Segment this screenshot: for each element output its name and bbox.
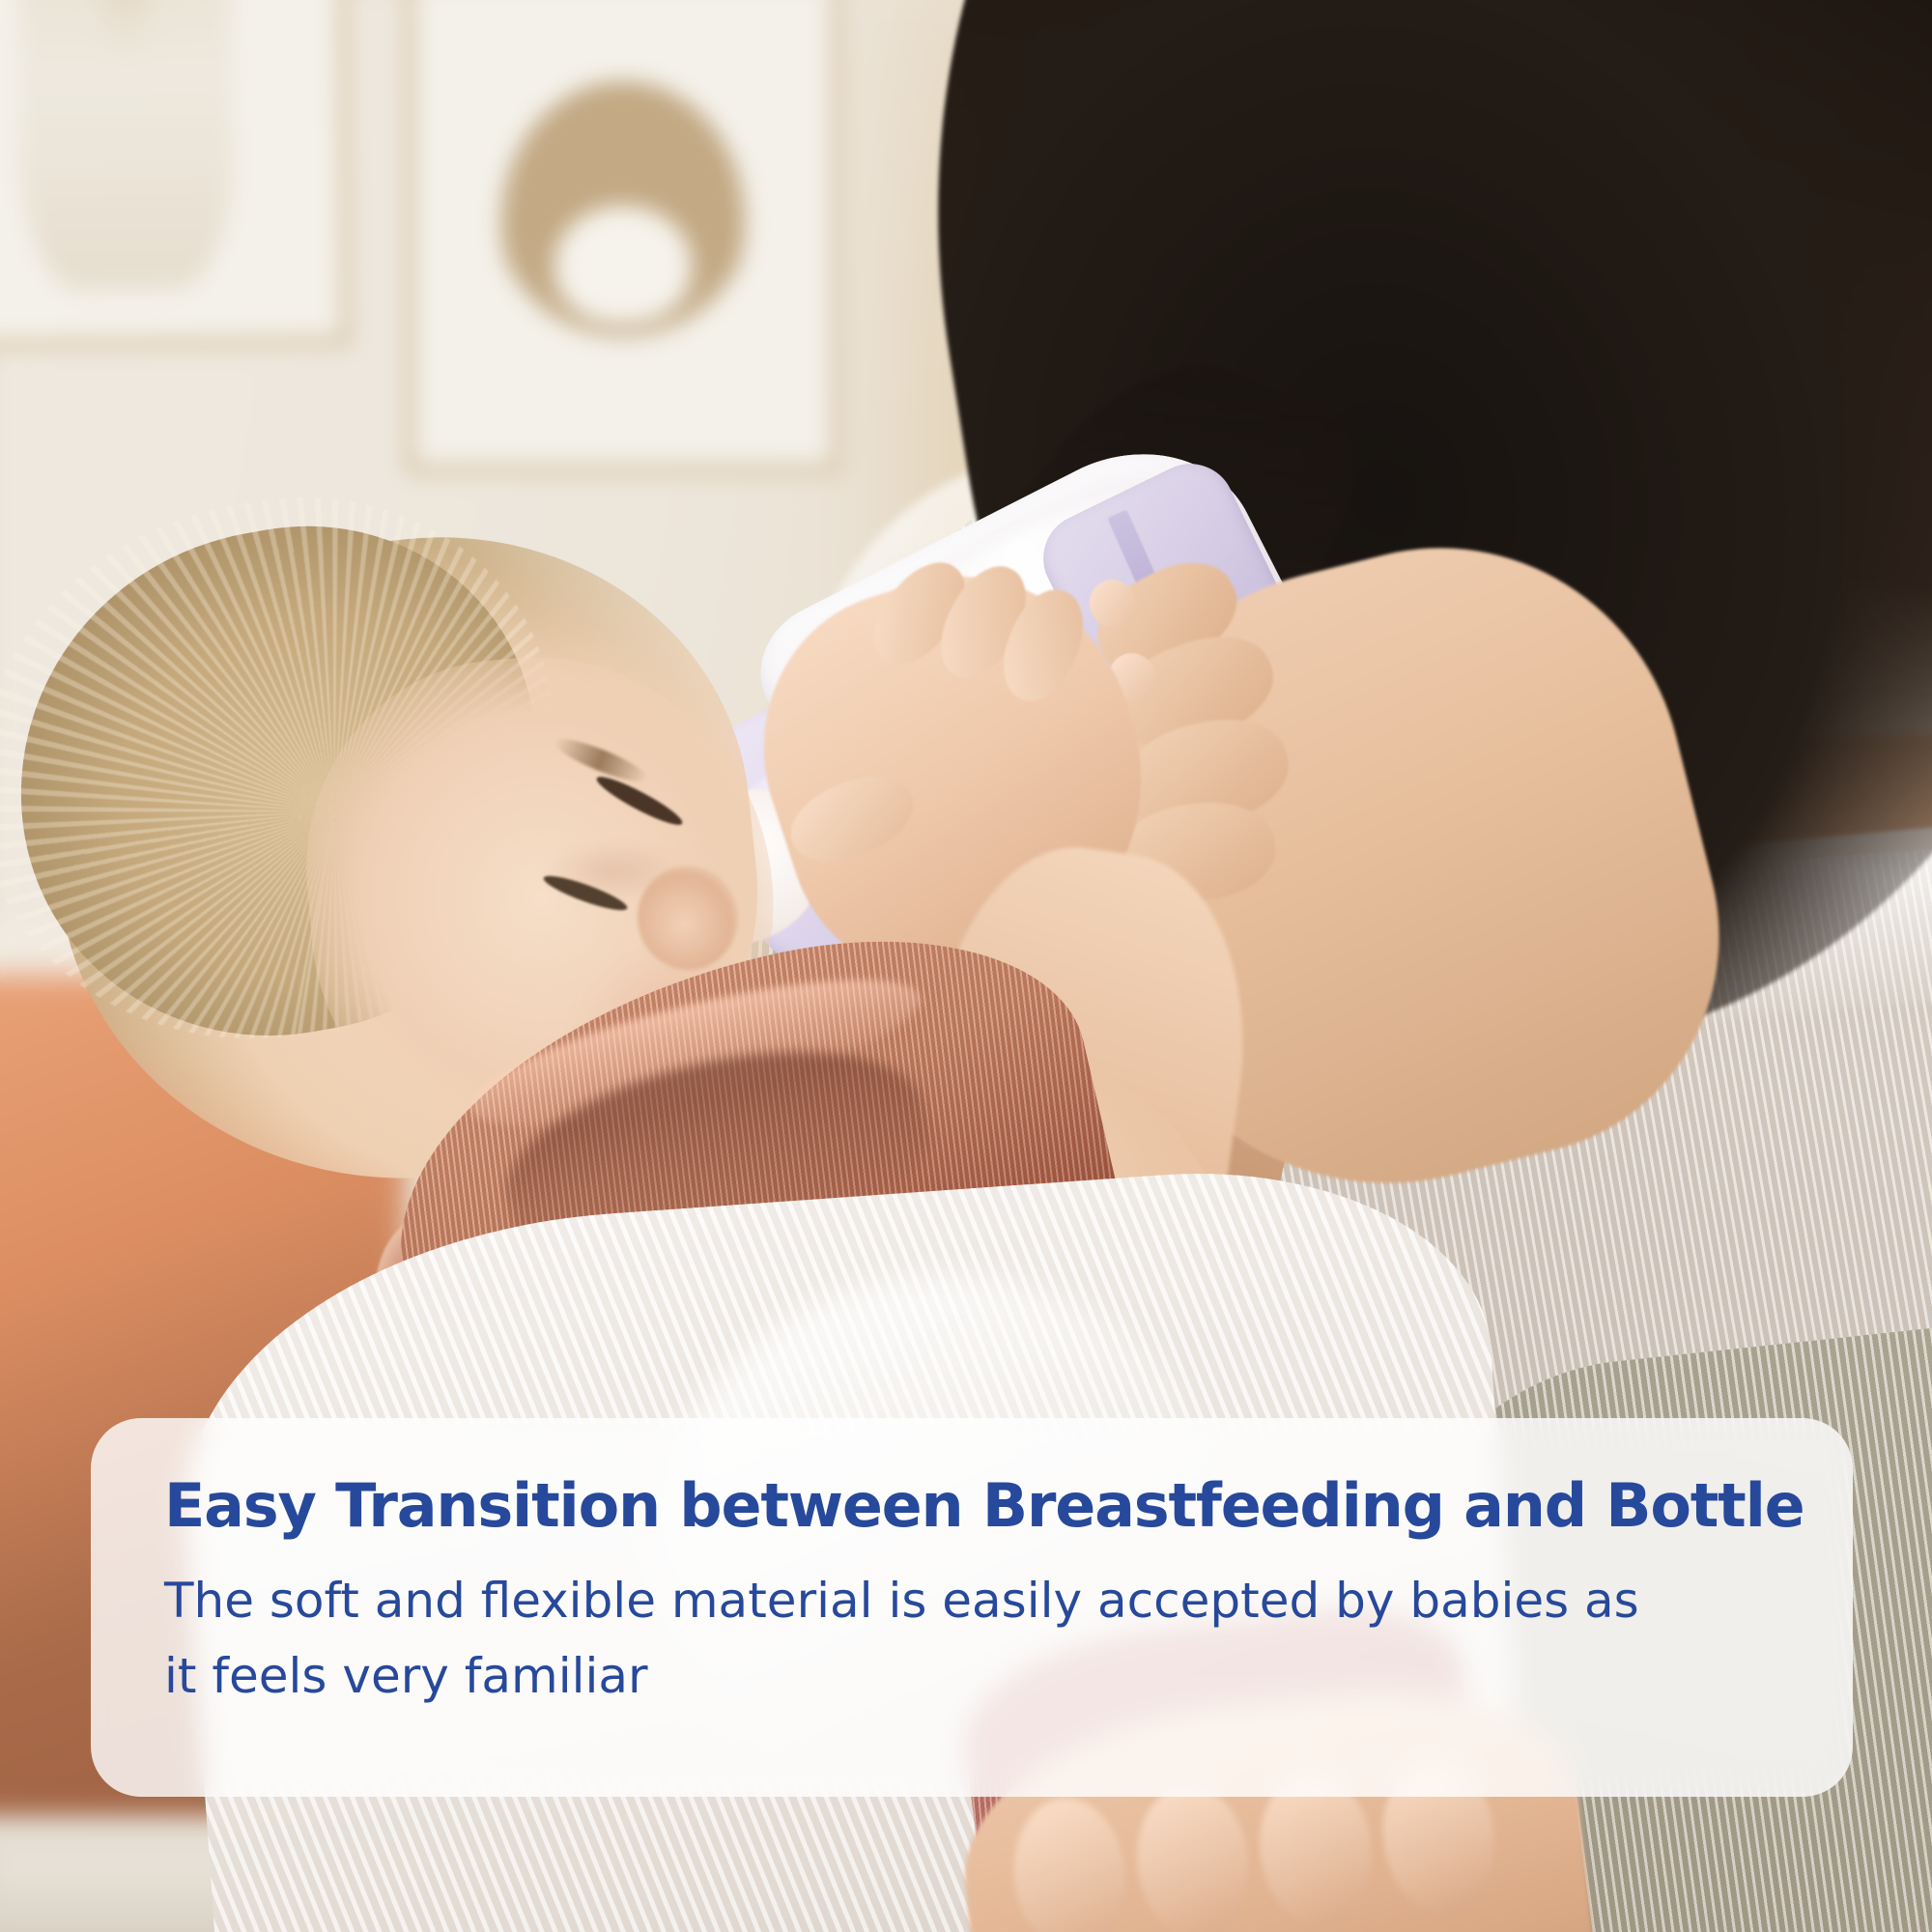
feature-callout-card: Easy Transition between Breastfeeding an… — [91, 1418, 1853, 1797]
bear-snout — [618, 272, 628, 298]
knuckle — [1007, 1793, 1133, 1932]
wall-frame-right — [406, 0, 840, 473]
banner-root: Easy Transition between Breastfeeding an… — [0, 0, 1932, 1932]
callout-subtitle: The soft and flexible material is easily… — [164, 1563, 1799, 1714]
callout-subtitle-line-2: it feels very familiar — [164, 1638, 1799, 1714]
framed-art-bear — [501, 81, 745, 362]
knuckle — [1129, 1779, 1256, 1932]
callout-subtitle-line-1: The soft and flexible material is easily… — [164, 1563, 1799, 1638]
callout-title: Easy Transition between Breastfeeding an… — [164, 1474, 1799, 1538]
framed-art-figure — [16, 0, 235, 291]
wall-frame-left — [0, 0, 351, 350]
